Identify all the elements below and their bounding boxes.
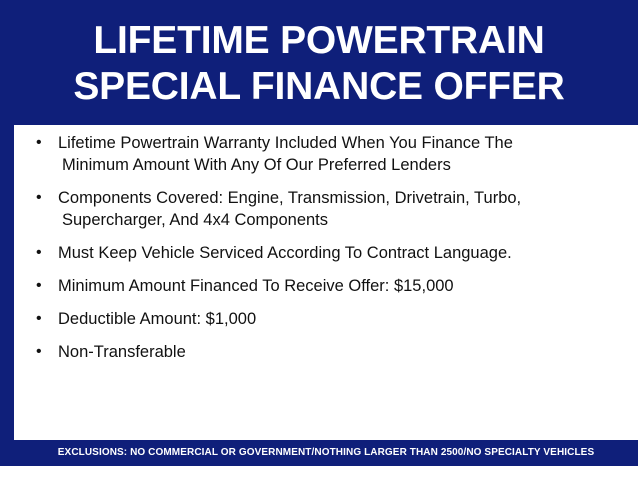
list-item: • Components Covered: Engine, Transmissi… <box>14 187 626 231</box>
page-title-line-2: SPECIAL FINANCE OFFER <box>0 64 638 110</box>
list-item-line-1: Must Keep Vehicle Serviced According To … <box>58 244 512 262</box>
list-item: • Must Keep Vehicle Serviced According T… <box>14 242 626 264</box>
list-item: • Minimum Amount Financed To Receive Off… <box>14 275 626 297</box>
list-item: • Deductible Amount: $1,000 <box>14 308 626 330</box>
bullet-marker-icon: • <box>36 308 42 330</box>
list-item-text: Must Keep Vehicle Serviced According To … <box>58 242 620 264</box>
bullet-list: • Lifetime Powertrain Warranty Included … <box>14 132 626 374</box>
slide: LIFETIME POWERTRAIN SPECIAL FINANCE OFFE… <box>0 0 638 479</box>
list-item-line-1: Minimum Amount Financed To Receive Offer… <box>58 277 454 295</box>
list-item-text: Minimum Amount Financed To Receive Offer… <box>58 275 620 297</box>
list-item-line-2: Supercharger, And 4x4 Components <box>58 209 620 231</box>
list-item-text: Non-Transferable <box>58 341 620 363</box>
list-item: • Lifetime Powertrain Warranty Included … <box>14 132 626 176</box>
header-band: LIFETIME POWERTRAIN SPECIAL FINANCE OFFE… <box>0 0 638 125</box>
list-item-line-1: Lifetime Powertrain Warranty Included Wh… <box>58 134 513 152</box>
bullet-marker-icon: • <box>36 341 42 363</box>
list-item-text: Lifetime Powertrain Warranty Included Wh… <box>58 132 620 176</box>
list-item-line-2: Minimum Amount With Any Of Our Preferred… <box>58 154 620 176</box>
bottom-margin <box>0 466 638 479</box>
list-item: • Non-Transferable <box>14 341 626 363</box>
bullet-marker-icon: • <box>36 132 42 154</box>
list-item-line-1: Non-Transferable <box>58 343 186 361</box>
bullet-marker-icon: • <box>36 275 42 297</box>
page-title: LIFETIME POWERTRAIN SPECIAL FINANCE OFFE… <box>0 18 638 110</box>
list-item-line-1: Components Covered: Engine, Transmission… <box>58 189 521 207</box>
exclusions-text: EXCLUSIONS: NO COMMERCIAL OR GOVERNMENT/… <box>14 440 638 466</box>
list-item-text: Deductible Amount: $1,000 <box>58 308 620 330</box>
bullet-marker-icon: • <box>36 242 42 264</box>
page-title-line-1: LIFETIME POWERTRAIN <box>0 18 638 64</box>
footer-band: EXCLUSIONS: NO COMMERCIAL OR GOVERNMENT/… <box>14 440 638 466</box>
list-item-line-1: Deductible Amount: $1,000 <box>58 310 256 328</box>
list-item-text: Components Covered: Engine, Transmission… <box>58 187 620 231</box>
bullet-marker-icon: • <box>36 187 42 209</box>
